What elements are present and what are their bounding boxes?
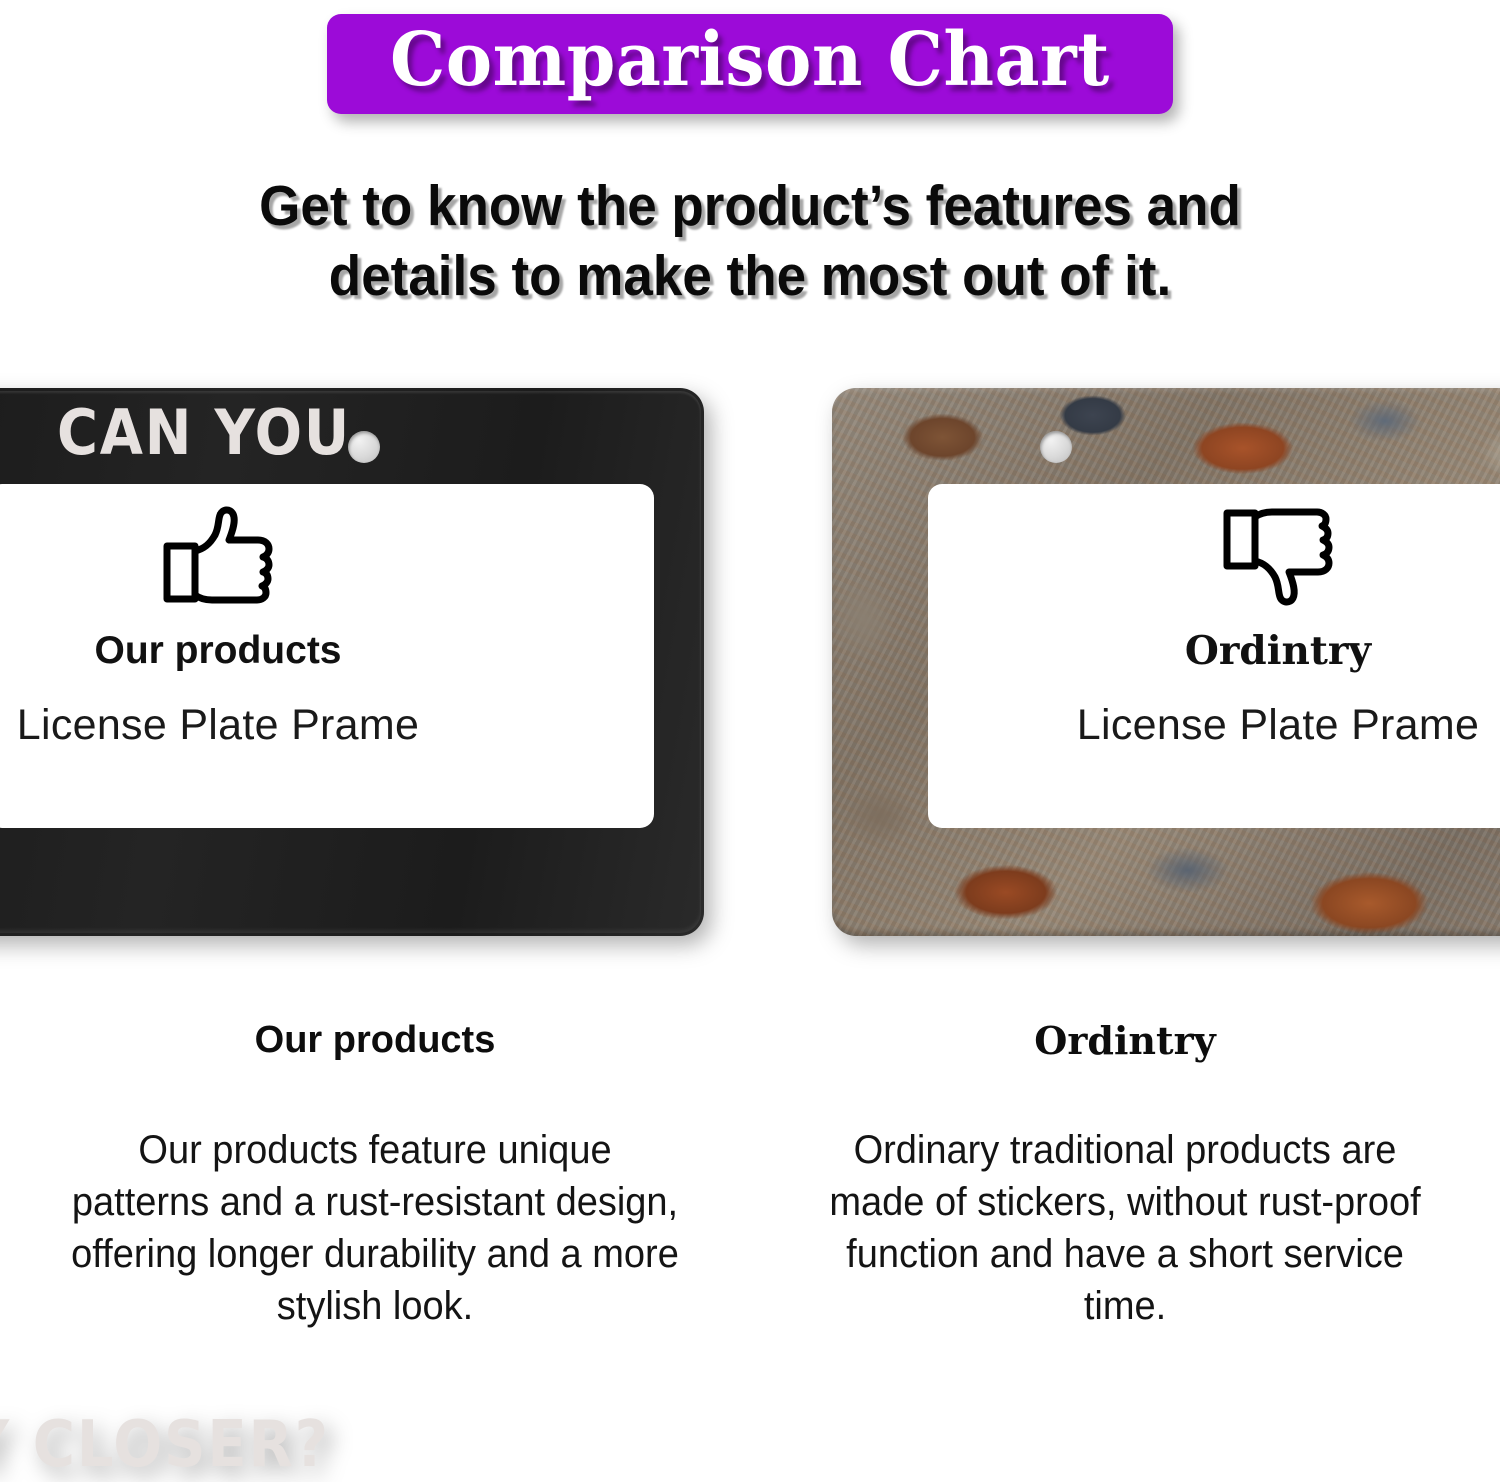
ordinary-product-column: Ordintry Ordinary traditional products a… [750,1020,1500,1332]
ordinary-product-body: Ordinary traditional products are made o… [821,1124,1429,1332]
our-product-column: Our products Our products feature unique… [0,1020,750,1332]
page-title: Comparison Chart [390,22,1110,100]
title-banner-wrap: Comparison Chart [0,14,1500,114]
our-product-body: Our products feature unique patterns and… [71,1124,679,1332]
title-banner: Comparison Chart [327,14,1173,114]
page-subtitle: Get to know the product’s features and d… [53,172,1448,311]
ordinary-product-frame: Ordintry License Plate Prame [832,388,1500,936]
left-plate-window [0,484,654,828]
comparison-descriptions: Our products Our products feature unique… [0,1020,1500,1332]
frame-top-caption: CAN YOU [0,396,571,469]
right-mounting-hole [1040,431,1072,463]
our-product-frame: CAN YOU ANY CLOSER? Our products License… [0,388,704,936]
subtitle-line-2: details to make the most out of it. [53,242,1448,312]
ordinary-product-heading: Ordintry [750,1020,1500,1062]
our-product-heading: Our products [0,1020,750,1062]
subtitle-line-1: Get to know the product’s features and [53,172,1448,242]
frames-row: CAN YOU ANY CLOSER? Our products License… [0,388,1500,944]
